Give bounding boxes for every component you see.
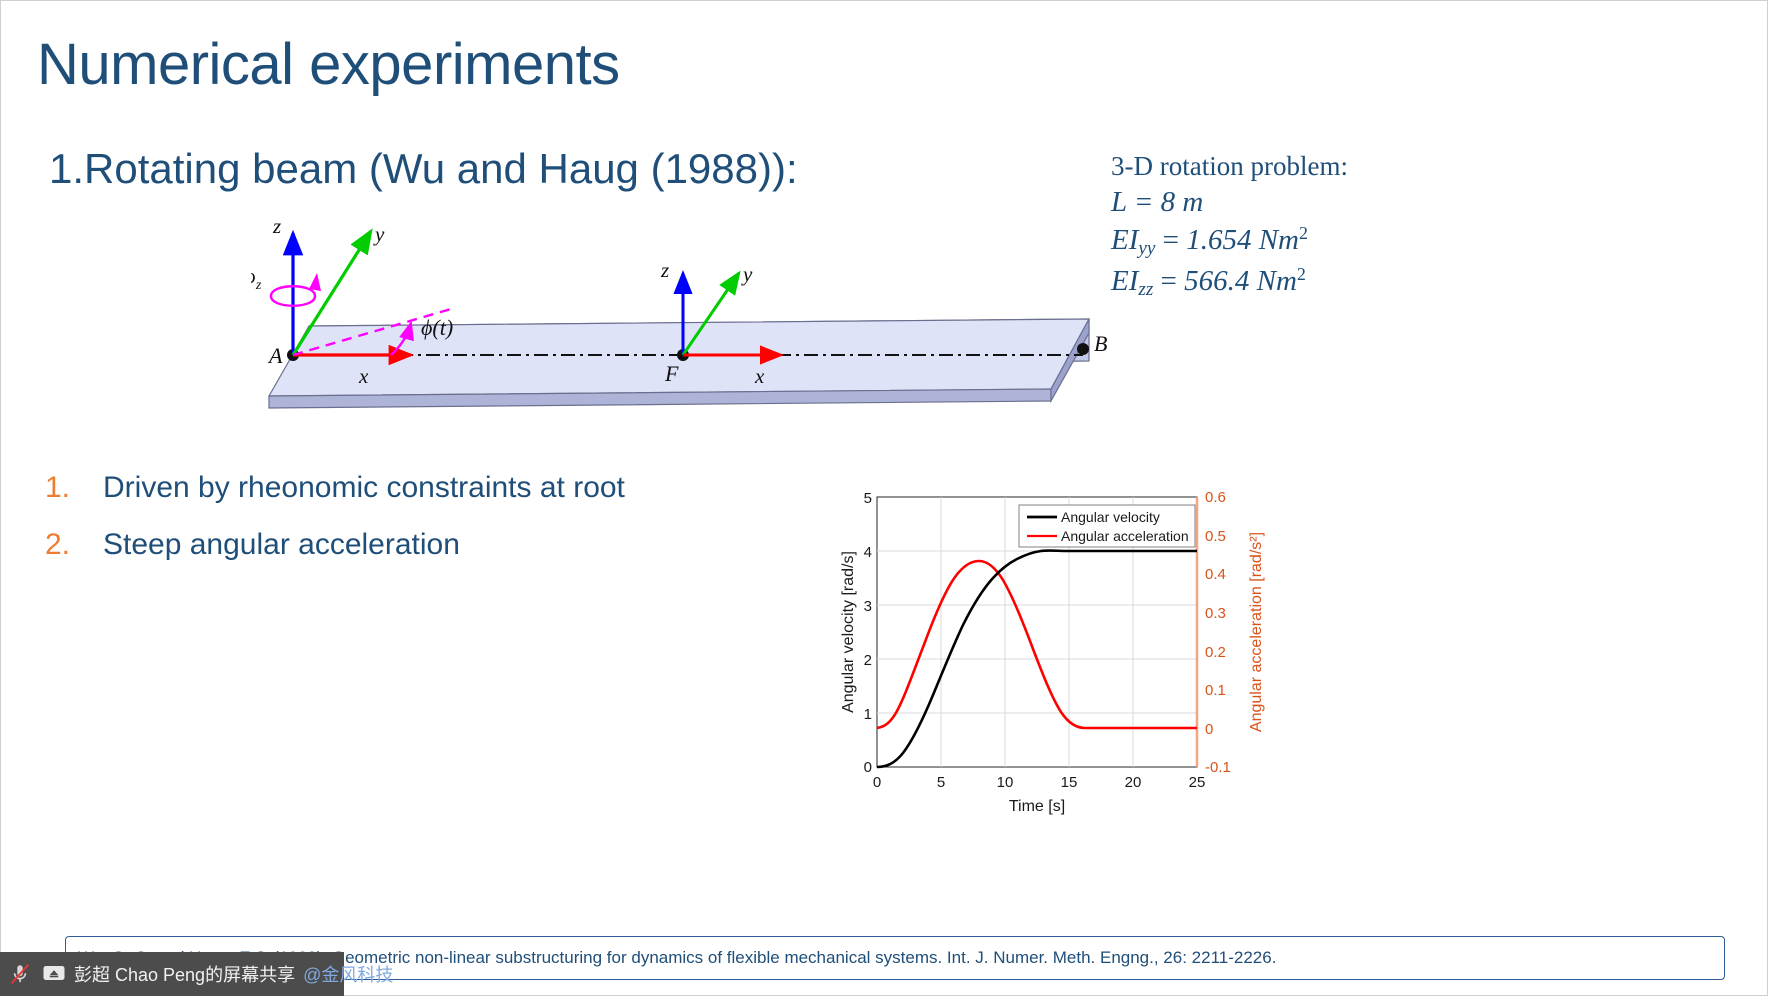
legend-label-angular-velocity: Angular velocity	[1061, 509, 1160, 525]
eq-ei-yy-value: 1.654 Nm	[1186, 224, 1299, 256]
legend-label-angular-acceleration: Angular acceleration	[1061, 528, 1189, 544]
screen-share-icon[interactable]	[40, 960, 68, 988]
axis-x-mid-label: x	[754, 364, 765, 388]
screen-share-overlay: 彭超 Chao Peng的屏幕共享 @金风科技	[0, 952, 344, 996]
equation-length: L = 8 m	[1111, 186, 1348, 219]
eq-ei-zz-exponent: 2	[1297, 264, 1306, 284]
chart-x-ticks: 0 5 10 15 20 25	[873, 774, 1206, 791]
share-owner-label: 彭超 Chao Peng的屏幕共享	[74, 961, 295, 987]
parameters-heading: 3-D rotation problem:	[1111, 151, 1348, 182]
x-tick-label: 10	[997, 774, 1014, 791]
y-tick-label: 3	[864, 598, 872, 615]
x-tick-label: 0	[873, 774, 881, 791]
list-item-label: Steep angular acceleration	[103, 528, 460, 563]
phi-label: ϕ(t)	[421, 315, 453, 340]
y-tick-label: 4	[864, 544, 872, 561]
point-a-label: A	[267, 343, 283, 368]
axis-y-mid-label: y	[741, 262, 753, 286]
y2-tick-label: -0.1	[1205, 759, 1231, 776]
chart-x-axis-label: Time [s]	[1009, 798, 1065, 815]
axis-z-root-label: z	[272, 214, 281, 238]
omega-subscript: z	[255, 278, 262, 293]
eq-ei-zz-sub: zz	[1138, 279, 1153, 300]
eq-ei-yy-sub: yy	[1138, 238, 1155, 259]
axis-x-root-label: x	[358, 364, 369, 388]
y2-tick-label: 0.6	[1205, 489, 1226, 506]
x-tick-label: 25	[1189, 774, 1206, 791]
y2-tick-label: 0.1	[1205, 682, 1226, 699]
list-item-number: 1.	[45, 471, 103, 505]
axis-z-mid-label: z	[660, 258, 669, 282]
eq-ei-yy-equals: =	[1155, 224, 1186, 256]
bullet-list: 1. Driven by rheonomic constraints at ro…	[45, 471, 745, 584]
chart-y2-axis-label: Angular acceleration [rad/s²]	[1248, 532, 1265, 732]
list-item: 2. Steep angular acceleration	[45, 528, 745, 563]
eq-ei-yy-exponent: 2	[1299, 223, 1308, 243]
omega-z-arrow-head	[309, 273, 321, 291]
point-b-label: B	[1094, 331, 1107, 356]
x-tick-label: 5	[937, 774, 945, 791]
y2-tick-label: 0.5	[1205, 528, 1226, 545]
omega-z-label: ωz	[251, 264, 262, 293]
list-item-number: 2.	[45, 528, 103, 562]
point-b-marker	[1077, 343, 1089, 355]
y-tick-label: 0	[864, 759, 872, 776]
y2-tick-label: 0.2	[1205, 644, 1226, 661]
page-title: Numerical experiments	[37, 31, 620, 98]
beam-body	[269, 319, 1089, 408]
x-tick-label: 15	[1061, 774, 1078, 791]
eq-ei-zz-equals: =	[1153, 265, 1184, 297]
x-tick-label: 20	[1125, 774, 1142, 791]
y-tick-label: 2	[864, 652, 872, 669]
y-tick-label: 1	[864, 706, 872, 723]
list-item: 1. Driven by rheonomic constraints at ro…	[45, 471, 745, 506]
y-tick-label: 5	[864, 490, 872, 507]
presentation-slide: Numerical experiments 1.Rotating beam (W…	[0, 0, 1768, 996]
eq-ei-zz-value: 566.4 Nm	[1184, 265, 1297, 297]
chart-legend: Angular velocity Angular acceleration	[1019, 505, 1195, 547]
list-item-label: Driven by rheonomic constraints at root	[103, 471, 625, 506]
y2-tick-label: 0	[1205, 721, 1213, 738]
angular-motion-chart: 5 4 3 2 1 0 0.6 0.5 0.4 0.3 0.2 0.1 0 -0…	[837, 479, 1297, 819]
chart-y-axis-label: Angular velocity [rad/s]	[840, 551, 857, 713]
section-subheading: 1.Rotating beam (Wu and Haug (1988)):	[49, 145, 798, 193]
point-f-label: F	[664, 361, 679, 386]
rotating-beam-diagram: A B z y x ωz ϕ(t) F z y x	[251, 211, 1131, 426]
y2-tick-label: 0.3	[1205, 605, 1226, 622]
share-watermark-tag: @金风科技	[303, 961, 393, 987]
y2-tick-label: 0.4	[1205, 566, 1226, 583]
axis-y-root-label: y	[373, 222, 385, 246]
equation-ei-yy: EIyy = 1.654 Nm2	[1111, 223, 1348, 260]
parameters-block: 3-D rotation problem: L = 8 m EIyy = 1.6…	[1111, 151, 1348, 305]
mic-muted-icon[interactable]	[6, 960, 34, 988]
chart-y-ticks: 5 4 3 2 1 0	[864, 490, 872, 776]
chart-y2-ticks: 0.6 0.5 0.4 0.3 0.2 0.1 0 -0.1	[1205, 489, 1231, 776]
equation-ei-zz: EIzz = 566.4 Nm2	[1111, 264, 1348, 301]
